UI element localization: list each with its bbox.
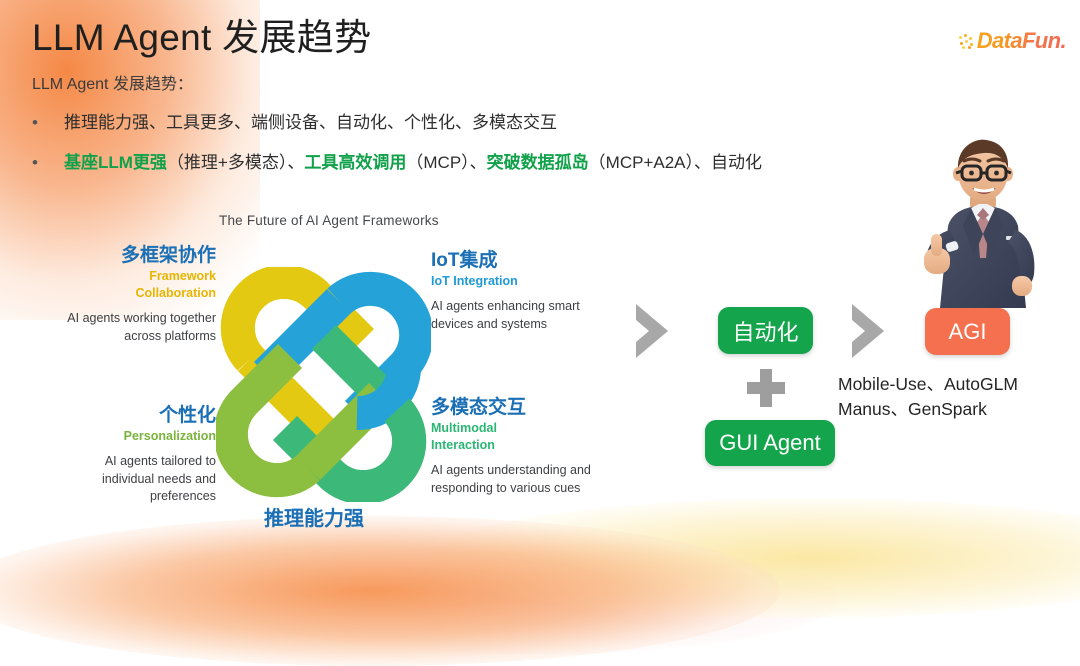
- bullet-highlight-1: 基座LLM更强: [64, 148, 167, 173]
- infographic-center-label: 推理能力强: [264, 502, 364, 531]
- bullet-marker: •: [32, 113, 64, 133]
- chevron-right-icon: [632, 302, 674, 360]
- infographic-title: The Future of AI Agent Frameworks: [219, 213, 439, 228]
- subtitle: LLM Agent 发展趋势：: [32, 70, 193, 94]
- infographic-block-personalization: 个性化 Personalization AI agents tailored t…: [64, 405, 216, 506]
- chevron-right-icon: [848, 302, 890, 360]
- block-description: AI agents enhancing smart devices and sy…: [431, 298, 583, 334]
- block-title-en-line2: Collaboration: [64, 286, 216, 301]
- background-wave-pink: [220, 544, 840, 654]
- datafun-dots-icon: [959, 34, 974, 49]
- infographic: The Future of AI Agent Frameworks 多框架协作: [64, 205, 624, 550]
- page-title: LLM Agent 发展趋势: [32, 16, 371, 60]
- automation-badge[interactable]: 自动化: [718, 307, 813, 354]
- bullet-plain-2: （MCP）、: [406, 148, 486, 173]
- bullet-item-2: • 基座LLM更强 （推理+多模态）、 工具高效调用 （MCP）、 突破数据孤岛…: [32, 148, 762, 173]
- bullet-text: 推理能力强、工具更多、端侧设备、自动化、个性化、多模态交互: [64, 108, 557, 133]
- bullet-plain-3: （MCP+A2A）、自动化: [589, 148, 762, 173]
- infographic-block-multimodal: 多模态交互 Multimodal Interaction AI agents u…: [431, 397, 601, 497]
- businessman-thumbs-up-illustration: [908, 138, 1068, 323]
- infographic-block-iot: IoT集成 IoT Integration AI agents enhancin…: [431, 250, 583, 333]
- gui-agent-badge[interactable]: GUI Agent: [705, 420, 835, 466]
- tool-list: Mobile-Use、AutoGLM Manus、GenSpark: [838, 372, 1018, 423]
- block-title-en-line2: Interaction: [431, 438, 601, 453]
- bullet-plain-1: （推理+多模态）、: [167, 148, 304, 173]
- block-title-en-line1: Personalization: [64, 429, 216, 444]
- block-description: AI agents working together across platfo…: [64, 310, 216, 346]
- block-title-en-line1: Framework: [64, 269, 216, 284]
- datafun-logo: DataFun.: [959, 28, 1066, 54]
- tool-list-line-2: Manus、GenSpark: [838, 397, 1018, 422]
- bullet-highlight-2: 工具高效调用: [304, 148, 406, 173]
- plus-icon: [747, 369, 785, 407]
- infographic-block-framework: 多框架协作 Framework Collaboration AI agents …: [64, 245, 216, 345]
- block-title-cn: 多模态交互: [431, 397, 601, 419]
- block-title-en-line1: IoT Integration: [431, 274, 583, 289]
- bullet-item-1: • 推理能力强、工具更多、端侧设备、自动化、个性化、多模态交互: [32, 108, 557, 133]
- bullet-marker: •: [32, 153, 64, 173]
- block-title-en-line1: Multimodal: [431, 421, 601, 436]
- tool-list-line-1: Mobile-Use、AutoGLM: [838, 372, 1018, 397]
- bullet-highlight-3: 突破数据孤岛: [487, 148, 589, 173]
- block-title-cn: 多框架协作: [64, 245, 216, 267]
- block-title-cn: 个性化: [64, 405, 216, 427]
- datafun-wordmark: DataFun.: [977, 28, 1066, 54]
- block-description: AI agents tailored to individual needs a…: [64, 453, 216, 506]
- interlocking-knot-icon: [216, 267, 431, 502]
- block-title-cn: IoT集成: [431, 250, 583, 272]
- block-description: AI agents understanding and responding t…: [431, 462, 601, 498]
